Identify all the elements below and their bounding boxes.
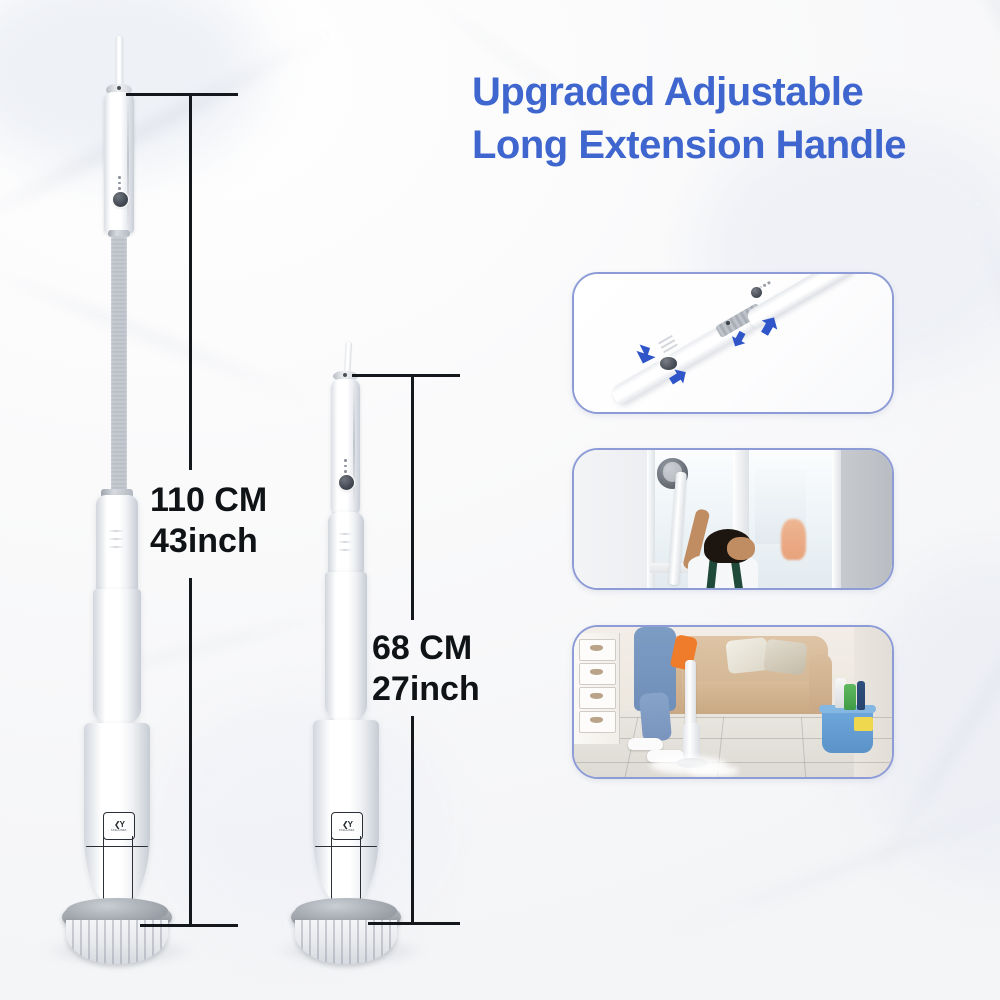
power-button[interactable]: [751, 287, 762, 298]
dimension-label-110cm: 110 CM 43inch: [150, 480, 267, 562]
handle-grip: [104, 92, 134, 234]
body-mid: [93, 589, 141, 725]
mop-pole: [685, 660, 696, 732]
dimension-cm-110: 110 CM: [150, 480, 267, 521]
dimension-tick-bottom-right: [368, 922, 460, 925]
brand-name-text: TASHUNFA: [339, 829, 355, 832]
dimension-inch-43: 43inch: [150, 521, 267, 562]
led-indicators: [118, 176, 121, 190]
cleaning-bucket: [822, 708, 873, 753]
dimension-cm-68: 68 CM: [372, 628, 480, 669]
rod-lock-hole: [726, 321, 730, 325]
panel-window-cleaning[interactable]: [572, 448, 894, 590]
panel-floor-mopping[interactable]: [572, 625, 894, 779]
dimension-line-right-lower: [411, 716, 414, 924]
dimension-tick-top-right: [352, 374, 460, 377]
brush-head: [66, 920, 168, 964]
pillow-right: [763, 638, 808, 674]
yellow-sponge: [854, 717, 873, 731]
body-outline-detail: [331, 836, 361, 905]
detergent-bottle: [844, 684, 855, 710]
background-object: [781, 519, 806, 560]
brush-handle: [857, 681, 865, 710]
dimension-tick-top-left: [126, 93, 238, 96]
panel-telescoping-detail[interactable]: [572, 272, 894, 414]
interior-wall-left: [574, 450, 650, 588]
dimension-inch-27: 27inch: [372, 669, 480, 710]
body-mid: [325, 572, 367, 722]
power-button[interactable]: [113, 192, 128, 207]
body-outline-detail: [103, 836, 133, 905]
pole-cap-dot: [343, 373, 347, 377]
dimension-line-left-upper: [189, 93, 192, 470]
headline-line-2: Long Extension Handle: [472, 119, 992, 172]
dimension-tick-bottom-left: [140, 924, 238, 927]
person-face: [727, 537, 756, 560]
dimension-line-right-upper: [411, 374, 414, 620]
brand-name-text: TASHUNFA: [111, 829, 127, 832]
pole-cap-dot: [117, 86, 121, 90]
body-upper: [96, 495, 138, 591]
telescoping-rod: [111, 236, 127, 494]
body-upper: [328, 512, 364, 574]
handle-grip: [331, 379, 360, 513]
pillow-left: [725, 637, 770, 674]
headline: Upgraded Adjustable Long Extension Handl…: [472, 66, 992, 172]
dimension-label-68cm: 68 CM 27inch: [372, 628, 480, 710]
led-indicators: [344, 459, 347, 473]
power-button[interactable]: [339, 475, 354, 490]
brush-head: [295, 920, 397, 964]
person-shoe-left: [628, 738, 663, 750]
product-infographic: Upgraded Adjustable Long Extension Handl…: [0, 0, 1000, 1000]
dimension-line-left-lower: [189, 578, 192, 926]
headline-line-1: Upgraded Adjustable: [472, 66, 992, 119]
